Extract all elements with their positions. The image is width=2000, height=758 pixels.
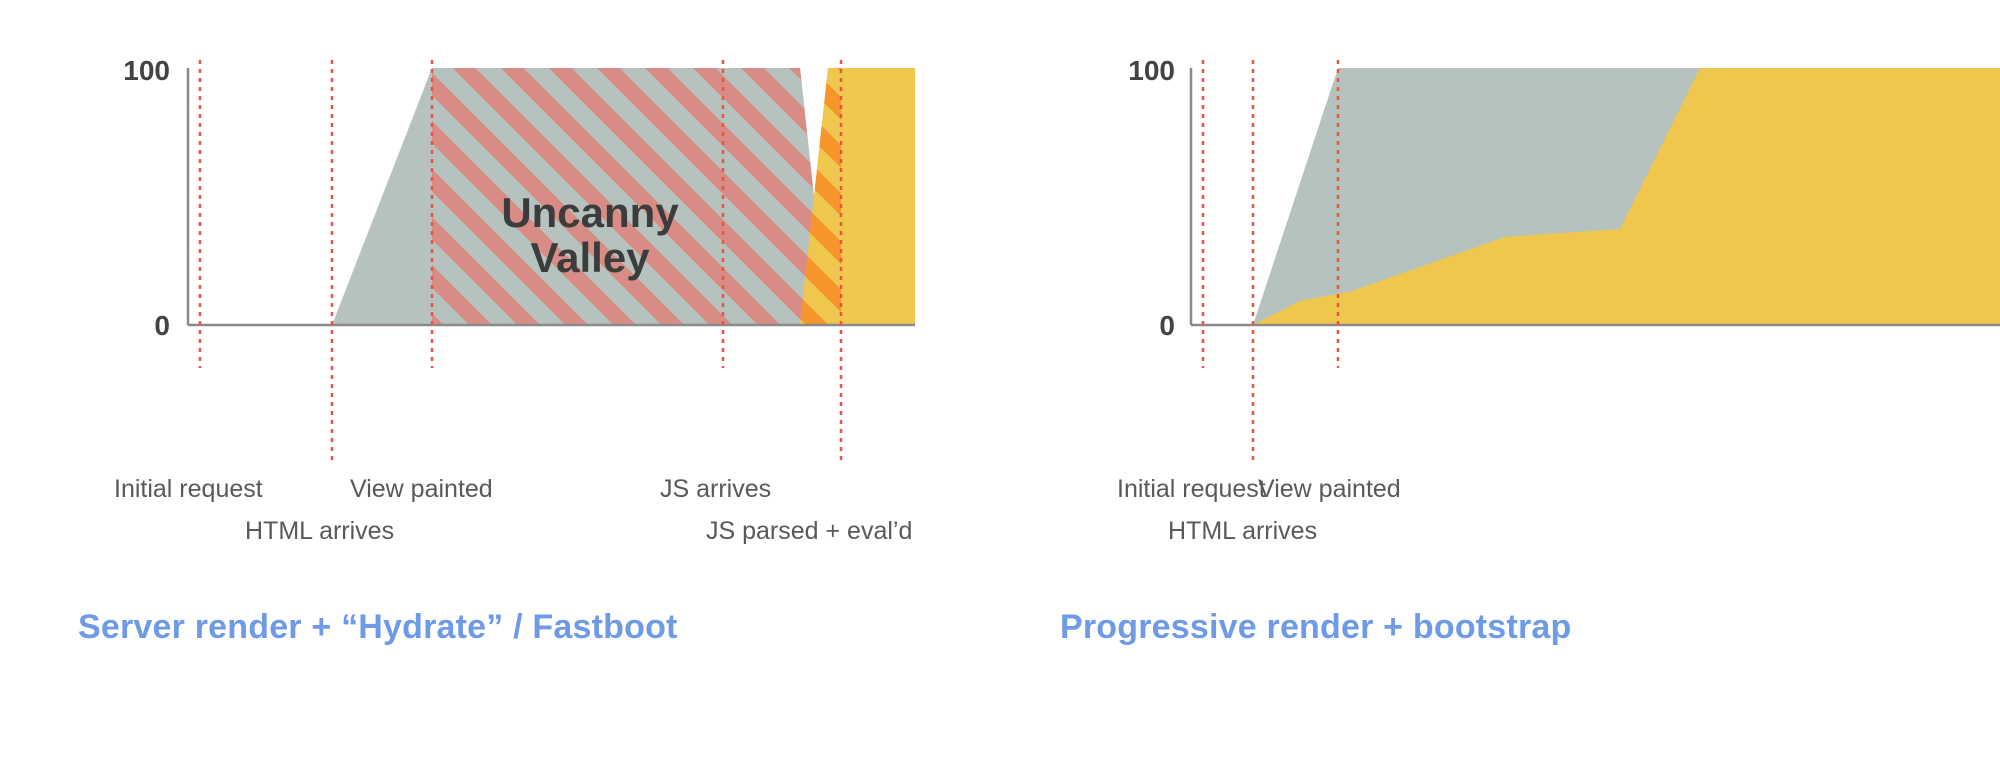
y-axis-tick-bottom: 0: [90, 310, 170, 342]
y-axis-tick-bottom: 0: [1095, 310, 1175, 342]
marker-label-initial-request: Initial request: [1117, 475, 1266, 504]
marker-label-js-arrives: JS arrives: [660, 475, 771, 504]
marker-label-view-painted: View painted: [1258, 475, 1401, 504]
slide-root: 100 0 Uncanny Valley Initial request HTM…: [0, 0, 2000, 758]
marker-label-view-painted: View painted: [350, 475, 493, 504]
marker-label-initial-request: Initial request: [114, 475, 263, 504]
chart-panel-progressive-render: 100 0 Initial request HTML arrives View …: [1000, 0, 2000, 758]
y-axis-tick-top: 100: [1095, 55, 1175, 87]
marker-label-js-parsed-evald: JS parsed + eval’d: [706, 517, 912, 546]
panel-title-server-render: Server render + “Hydrate” / Fastboot: [78, 608, 678, 647]
marker-label-html-arrives: HTML arrives: [245, 517, 394, 546]
marker-label-html-arrives: HTML arrives: [1168, 517, 1317, 546]
chart-panel-server-render: 100 0 Uncanny Valley Initial request HTM…: [0, 0, 1000, 758]
panel-title-progressive-render: Progressive render + bootstrap: [1060, 608, 1571, 647]
y-axis-tick-top: 100: [90, 55, 170, 87]
series-painted-area: [332, 55, 842, 335]
